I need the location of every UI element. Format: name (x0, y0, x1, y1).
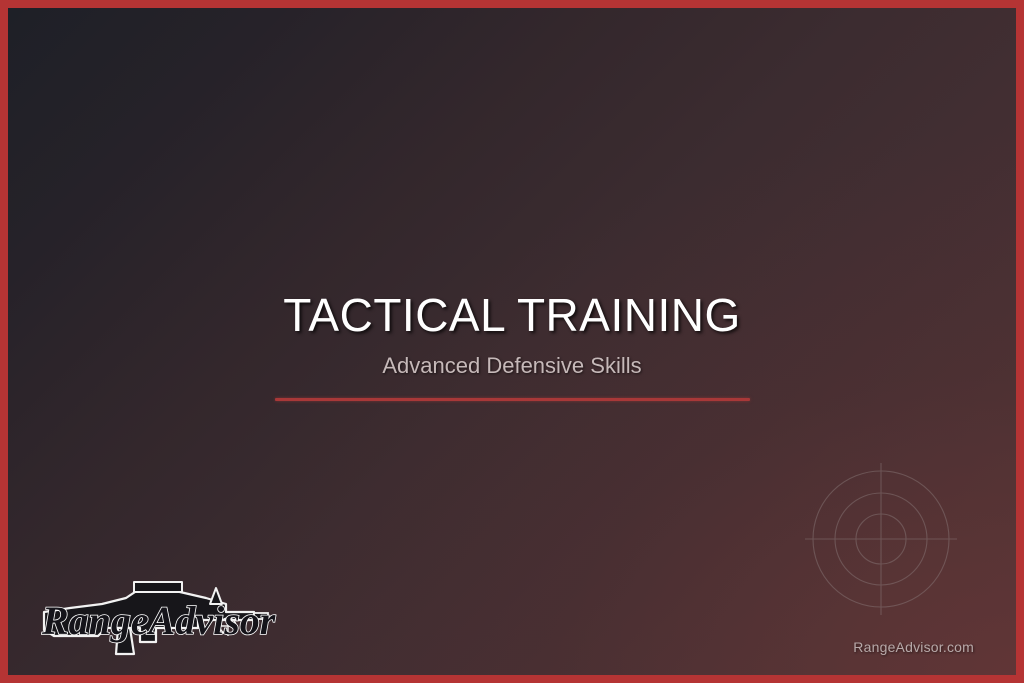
title-block: TACTICAL TRAINING Advanced Defensive Ski… (8, 292, 1016, 401)
logo-wordmark: RangeAdvisor (41, 598, 276, 643)
page-subtitle: Advanced Defensive Skills (8, 338, 1016, 377)
page-title: TACTICAL TRAINING (8, 292, 1016, 338)
footer-url: RangeAdvisor.com (853, 639, 974, 655)
crosshair-target-icon (803, 461, 959, 617)
accent-divider (275, 398, 750, 401)
slide-canvas: TACTICAL TRAINING Advanced Defensive Ski… (0, 0, 1024, 683)
avatar: RangeAdvisor (30, 568, 280, 668)
